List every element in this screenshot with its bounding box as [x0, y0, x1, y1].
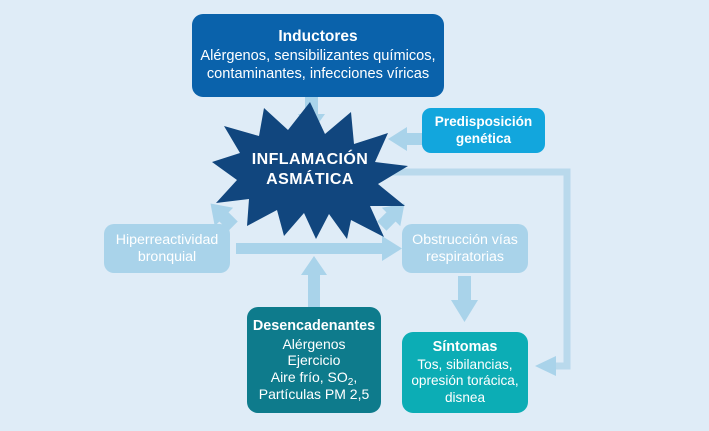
node-obstruccion-line2: respiratorias	[426, 249, 504, 266]
node-predisposicion-genetica[interactable]: Predisposición genética	[422, 108, 545, 153]
node-desencadenantes-line4: Partículas PM 2,5	[259, 386, 370, 403]
node-hiperreactividad-line1: Hiperreactividad	[116, 232, 219, 249]
arrow-desencadenantes-to-path	[301, 256, 327, 308]
node-hiperreactividad-line2: bronquial	[138, 249, 196, 266]
node-inflamacion-line1: INFLAMACIÓN	[252, 150, 368, 169]
node-inflamacion-line2: ASMÁTICA	[252, 170, 368, 189]
node-desencadenantes-line3-sub: 2	[348, 377, 354, 388]
node-inflamacion-text: INFLAMACIÓN ASMÁTICA	[252, 150, 368, 188]
node-hiperreactividad-bronquial[interactable]: Hiperreactividad bronquial	[104, 224, 230, 273]
arrow-hiperreactividad-to-obstruccion	[236, 236, 402, 261]
node-inductores-line2: contaminantes, infecciones víricas	[207, 66, 429, 83]
node-desencadenantes-title: Desencadenantes	[253, 318, 375, 335]
node-desencadenantes-line2: Ejercicio	[288, 352, 341, 369]
node-inductores-line1: Alérgenos, sensibilizantes químicos,	[200, 48, 435, 65]
node-sintomas-line1: Tos, sibilancias,	[417, 357, 512, 373]
node-obstruccion-line1: Obstrucción vías	[412, 232, 518, 249]
node-desencadenantes[interactable]: Desencadenantes Alérgenos Ejercicio Aire…	[247, 307, 381, 413]
asthma-inflammation-diagram: Inductores Alérgenos, sensibilizantes qu…	[0, 0, 709, 431]
node-sintomas[interactable]: Síntomas Tos, sibilancias, opresión torá…	[402, 332, 528, 413]
node-sintomas-line2: opresión torácica,	[411, 373, 518, 389]
node-sintomas-title: Síntomas	[433, 339, 498, 356]
node-desencadenantes-line3-post: ,	[353, 369, 357, 385]
node-sintomas-line3: disnea	[445, 390, 485, 406]
arrow-obstruccion-to-sintomas	[451, 276, 478, 322]
node-inflamacion-asmatica[interactable]: INFLAMACIÓN ASMÁTICA	[212, 100, 408, 239]
node-inductores[interactable]: Inductores Alérgenos, sensibilizantes qu…	[192, 14, 444, 97]
node-predisposicion-line2: genética	[456, 131, 511, 147]
node-predisposicion-line1: Predisposición	[435, 114, 532, 130]
node-desencadenantes-line1: Alérgenos	[282, 336, 345, 353]
node-obstruccion-vias-respiratorias[interactable]: Obstrucción vías respiratorias	[402, 224, 528, 273]
node-desencadenantes-line3: Aire frío, SO2,	[271, 369, 358, 386]
node-desencadenantes-line3-pre: Aire frío, SO	[271, 369, 348, 385]
node-inductores-title: Inductores	[278, 28, 357, 46]
